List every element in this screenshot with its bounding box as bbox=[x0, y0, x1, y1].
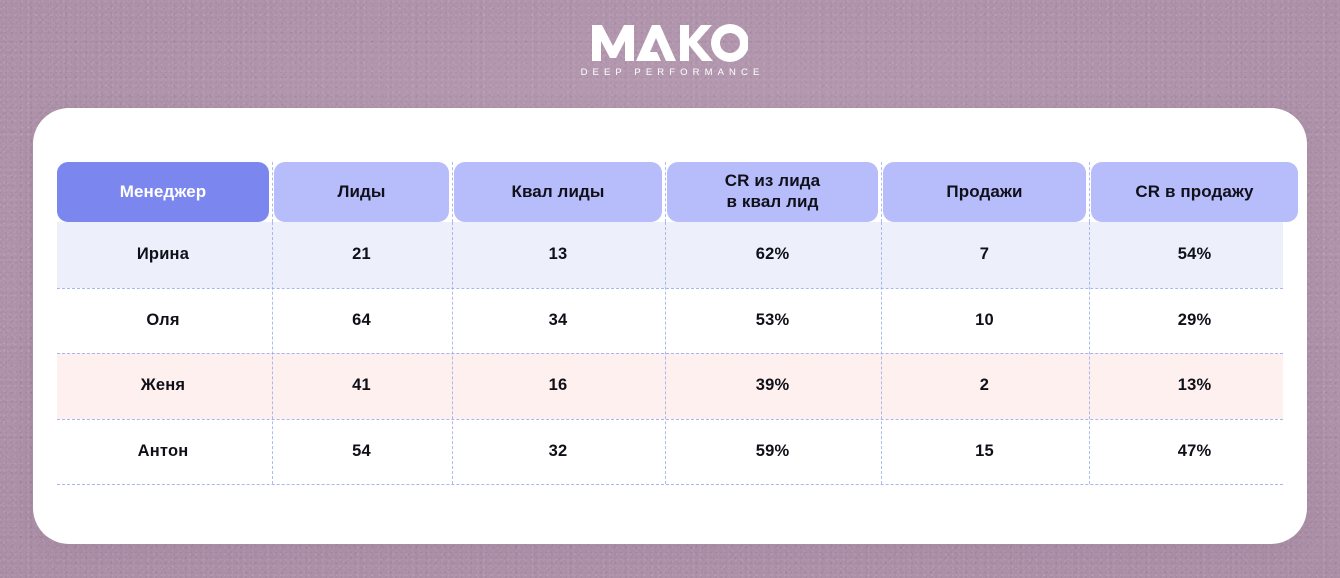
cell-text: Женя bbox=[141, 376, 185, 395]
cell-cr-to-sale: 29% bbox=[1091, 288, 1298, 354]
cell-text: Антон bbox=[138, 442, 189, 461]
column-separator bbox=[881, 222, 882, 484]
cell-cr-lead-to-qual: 62% bbox=[667, 222, 878, 288]
column-header-sales: Продажи bbox=[883, 162, 1086, 222]
column-separator bbox=[665, 222, 666, 484]
column-separator-header bbox=[272, 162, 273, 222]
row-separator bbox=[57, 353, 1283, 354]
cell-manager: Женя bbox=[57, 353, 269, 419]
column-header-cr-to-sale-label: CR в продажу bbox=[1135, 182, 1253, 203]
cell-text: 47% bbox=[1178, 442, 1212, 461]
cell-manager: Антон bbox=[57, 419, 269, 485]
cell-text: Ирина bbox=[137, 245, 189, 264]
cell-sales: 7 bbox=[883, 222, 1086, 288]
column-header-cr-lead-to-qual: CR из лида в квал лид bbox=[667, 162, 878, 222]
cell-sales: 10 bbox=[883, 288, 1086, 354]
table-row: Ирина 21 13 62% 7 54% bbox=[57, 222, 1283, 288]
cell-text: 41 bbox=[352, 376, 371, 395]
column-header-qual-leads-label: Квал лиды bbox=[511, 182, 604, 203]
column-header-sales-label: Продажи bbox=[946, 182, 1022, 203]
cell-cr-lead-to-qual: 59% bbox=[667, 419, 878, 485]
cell-text: 62% bbox=[756, 245, 790, 264]
cell-cr-to-sale: 47% bbox=[1091, 419, 1298, 485]
column-header-cr-lead-to-qual-label: CR из лида в квал лид bbox=[725, 171, 820, 212]
cell-text: 16 bbox=[549, 376, 568, 395]
brand-tagline: DEEP PERFORMANCE bbox=[576, 67, 765, 78]
cell-qual-leads: 34 bbox=[454, 288, 662, 354]
cell-text: 10 bbox=[975, 311, 994, 330]
cell-text: 64 bbox=[352, 311, 371, 330]
metrics-table: Менеджер Лиды Квал лиды CR из лида в ква… bbox=[57, 162, 1283, 484]
cell-text: 54 bbox=[352, 442, 371, 461]
column-separator-header bbox=[665, 162, 666, 222]
cell-qual-leads: 32 bbox=[454, 419, 662, 485]
column-header-manager-label: Менеджер bbox=[120, 182, 207, 203]
cell-text: 13% bbox=[1178, 376, 1212, 395]
row-separator bbox=[57, 484, 1283, 485]
cell-text: 7 bbox=[980, 245, 989, 264]
cell-text: 34 bbox=[549, 311, 568, 330]
cell-text: 32 bbox=[549, 442, 568, 461]
table-header-row: Менеджер Лиды Квал лиды CR из лида в ква… bbox=[57, 162, 1283, 222]
cell-leads: 21 bbox=[274, 222, 449, 288]
column-separator-header bbox=[881, 162, 882, 222]
column-separator bbox=[1089, 222, 1090, 484]
table-row: Оля 64 34 53% 10 29% bbox=[57, 288, 1283, 354]
column-header-leads-label: Лиды bbox=[337, 182, 385, 203]
table-row: Женя 41 16 39% 2 13% bbox=[57, 353, 1283, 419]
cell-text: 59% bbox=[756, 442, 790, 461]
column-header-qual-leads: Квал лиды bbox=[454, 162, 662, 222]
column-header-manager: Менеджер bbox=[57, 162, 269, 222]
table-body: Ирина 21 13 62% 7 54% Оля 64 34 53% 10 2… bbox=[57, 222, 1283, 484]
brand-logo: DEEP PERFORMANCE bbox=[0, 24, 1340, 78]
cell-text: 53% bbox=[756, 311, 790, 330]
cell-sales: 15 bbox=[883, 419, 1086, 485]
mako-wordmark-icon bbox=[592, 24, 748, 62]
cell-text: 2 bbox=[980, 376, 989, 395]
cell-cr-to-sale: 13% bbox=[1091, 353, 1298, 419]
cell-leads: 64 bbox=[274, 288, 449, 354]
cell-qual-leads: 16 bbox=[454, 353, 662, 419]
table-row: Антон 54 32 59% 15 47% bbox=[57, 419, 1283, 485]
cell-text: 29% bbox=[1178, 311, 1212, 330]
cell-manager: Оля bbox=[57, 288, 269, 354]
cell-text: 15 bbox=[975, 442, 994, 461]
cell-text: Оля bbox=[146, 311, 179, 330]
column-separator-header bbox=[452, 162, 453, 222]
column-separator bbox=[272, 222, 273, 484]
cell-leads: 54 bbox=[274, 419, 449, 485]
cell-cr-lead-to-qual: 39% bbox=[667, 353, 878, 419]
cell-sales: 2 bbox=[883, 353, 1086, 419]
cell-text: 21 bbox=[352, 245, 371, 264]
cell-text: 54% bbox=[1178, 245, 1212, 264]
cell-cr-to-sale: 54% bbox=[1091, 222, 1298, 288]
column-header-cr-to-sale: CR в продажу bbox=[1091, 162, 1298, 222]
cell-leads: 41 bbox=[274, 353, 449, 419]
column-separator bbox=[452, 222, 453, 484]
row-separator bbox=[57, 288, 1283, 289]
cell-cr-lead-to-qual: 53% bbox=[667, 288, 878, 354]
cell-text: 13 bbox=[549, 245, 568, 264]
cell-manager: Ирина bbox=[57, 222, 269, 288]
column-separator-header bbox=[1089, 162, 1090, 222]
cell-qual-leads: 13 bbox=[454, 222, 662, 288]
cell-text: 39% bbox=[756, 376, 790, 395]
column-header-leads: Лиды bbox=[274, 162, 449, 222]
table-card: Менеджер Лиды Квал лиды CR из лида в ква… bbox=[33, 108, 1307, 544]
row-separator bbox=[57, 419, 1283, 420]
